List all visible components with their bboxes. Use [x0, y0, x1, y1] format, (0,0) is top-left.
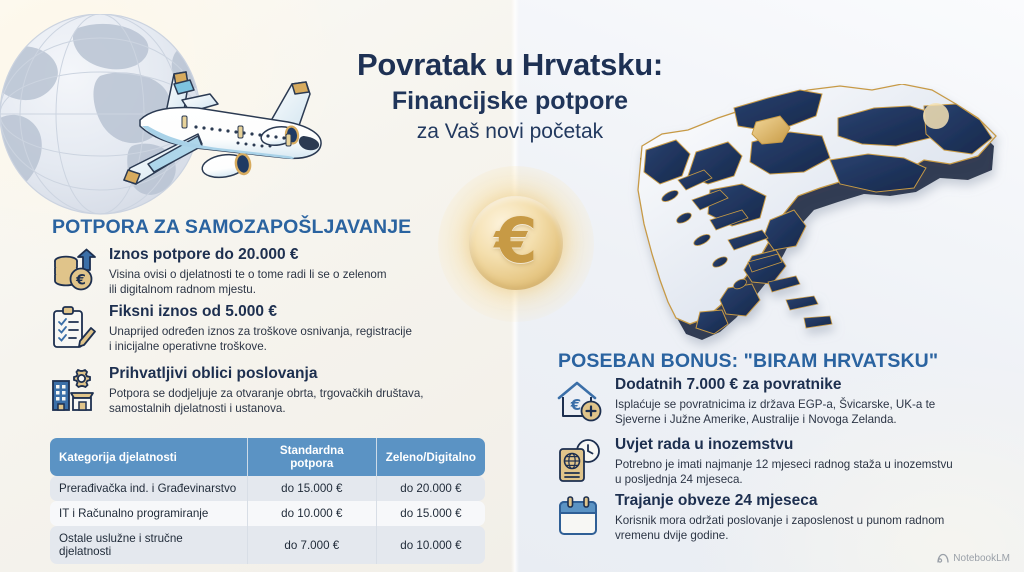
table-row: Ostale uslužne i stručne djelatnosti do …: [50, 526, 485, 564]
feature-desc-line-1: Korisnik mora održati poslovanje i zapos…: [615, 513, 1006, 528]
feature-desc-line-1: Unaprijed određen iznos za troškove osni…: [109, 324, 480, 339]
euro-icon: €: [494, 210, 537, 272]
svg-text:€: €: [75, 273, 86, 289]
table-cell-category: IT i Računalno programiranje: [50, 501, 247, 526]
feature-title: Iznos potpore do 20.000 €: [109, 246, 470, 265]
feature-text: Uvjet rada u inozemstvu Potrebno je imat…: [615, 436, 1008, 487]
table-cell-category: Prerađivačka ind. i Građevinarstvo: [50, 476, 247, 501]
feature-item-commitment-duration: Trajanje obveze 24 mjeseca Korisnik mora…: [556, 492, 1006, 543]
feature-desc-line-2: u posljednja 24 mjeseca.: [615, 472, 1008, 487]
building-gear-shop-icon: [50, 367, 96, 413]
feature-text: Iznos potpore do 20.000 € Visina ovisi o…: [109, 246, 470, 297]
clipboard-checklist-pencil-icon: [50, 305, 96, 351]
table-cell-category: Ostale uslužne i stručne djelatnosti: [50, 526, 247, 564]
watermark: NotebookLM: [937, 553, 1010, 564]
table-cell-green-digital: do 20.000 €: [376, 476, 485, 501]
feature-text: Fiksni iznos od 5.000 € Unaprijed određe…: [109, 303, 480, 354]
euro-coin: €: [469, 196, 563, 290]
table-header-category: Kategorija djelatnosti: [50, 438, 247, 476]
table-cell-standard: do 15.000 €: [247, 476, 376, 501]
feature-desc-line-2: Sjeverne i Južne Amerike, Australije i N…: [615, 412, 1006, 427]
table-cell-green-digital: do 10.000 €: [376, 526, 485, 564]
left-section-heading: POTPORA ZA SAMOZAPOŠLJAVANJE: [52, 216, 411, 239]
feature-title: Prihvatljivi oblici poslovanja: [109, 365, 480, 384]
feature-desc-line-2: samostalnih djelatnosti i ustanova.: [109, 401, 480, 416]
feature-title: Uvjet rada u inozemstvu: [615, 436, 1008, 455]
table-cell-standard: do 7.000 €: [247, 526, 376, 564]
feature-desc-line-1: Visina ovisi o djelatnosti te o tome rad…: [109, 267, 470, 282]
notebooklm-logo-icon: [937, 553, 949, 564]
feature-desc-line-1: Isplaćuje se povratnicima iz država EGP-…: [615, 397, 1006, 412]
calendar-icon: [556, 494, 602, 540]
table-row: IT i Računalno programiranje do 10.000 €…: [50, 501, 485, 526]
house-euro-plus-icon: €: [556, 378, 602, 424]
feature-text: Trajanje obveze 24 mjeseca Korisnik mora…: [615, 492, 1006, 543]
watermark-label: NotebookLM: [953, 553, 1010, 564]
feature-text: Prihvatljivi oblici poslovanja Potpora s…: [109, 365, 480, 416]
feature-item-business-forms: Prihvatljivi oblici poslovanja Potpora s…: [50, 365, 480, 416]
table-cell-green-digital: do 15.000 €: [376, 501, 485, 526]
airplane-illustration: [78, 44, 338, 204]
feature-desc-line-1: Potpora se dodjeljuje za otvaranje obrta…: [109, 386, 480, 401]
feature-desc-line-2: ili digitalnom radnom mjestu.: [109, 282, 470, 297]
feature-title: Dodatnih 7.000 € za povratnike: [615, 376, 1006, 395]
euro-coin-emblem: €: [438, 166, 594, 322]
title-line-1: Povratak u Hrvatsku:: [300, 48, 720, 83]
table-header-row: Kategorija djelatnosti Standardna potpor…: [50, 438, 485, 476]
svg-text:€: €: [570, 396, 581, 414]
feature-item-work-abroad: Uvjet rada u inozemstvu Potrebno je imat…: [556, 436, 1008, 487]
feature-text: Dodatnih 7.000 € za povratnike Isplaćuje…: [615, 376, 1006, 427]
passport-clock-icon: [556, 438, 602, 484]
table-cell-standard: do 10.000 €: [247, 501, 376, 526]
feature-desc-line-2: vremenu dvije godine.: [615, 528, 1006, 543]
feature-desc-line-2: i inicijalne operativne troškove.: [109, 339, 480, 354]
feature-item-fixed-amount: Fiksni iznos od 5.000 € Unaprijed određe…: [50, 303, 480, 354]
right-section-heading: POSEBAN BONUS: "BIRAM HRVATSKU": [558, 350, 938, 373]
feature-item-returnee-bonus: € Dodatnih 7.000 € za povratnike Isplaću…: [556, 376, 1006, 427]
feature-item-grant-amount: € Iznos potpore do 20.000 € Visina ovisi…: [50, 246, 470, 297]
infographic-canvas: Povratak u Hrvatsku: Financijske potpore…: [0, 0, 1024, 572]
croatia-map-illustration: [624, 84, 1016, 362]
support-amounts-table: Kategorija djelatnosti Standardna potpor…: [50, 438, 485, 564]
feature-title: Trajanje obveze 24 mjeseca: [615, 492, 1006, 511]
table-row: Prerađivačka ind. i Građevinarstvo do 15…: [50, 476, 485, 501]
table-header-standard: Standardna potpora: [247, 438, 376, 476]
feature-title: Fiksni iznos od 5.000 €: [109, 303, 480, 322]
table-header-green-digital: Zeleno/Digitalno: [376, 438, 485, 476]
coins-euro-arrow-up-icon: €: [50, 248, 96, 294]
feature-desc-line-1: Potrebno je imati najmanje 12 mjeseci ra…: [615, 457, 1008, 472]
